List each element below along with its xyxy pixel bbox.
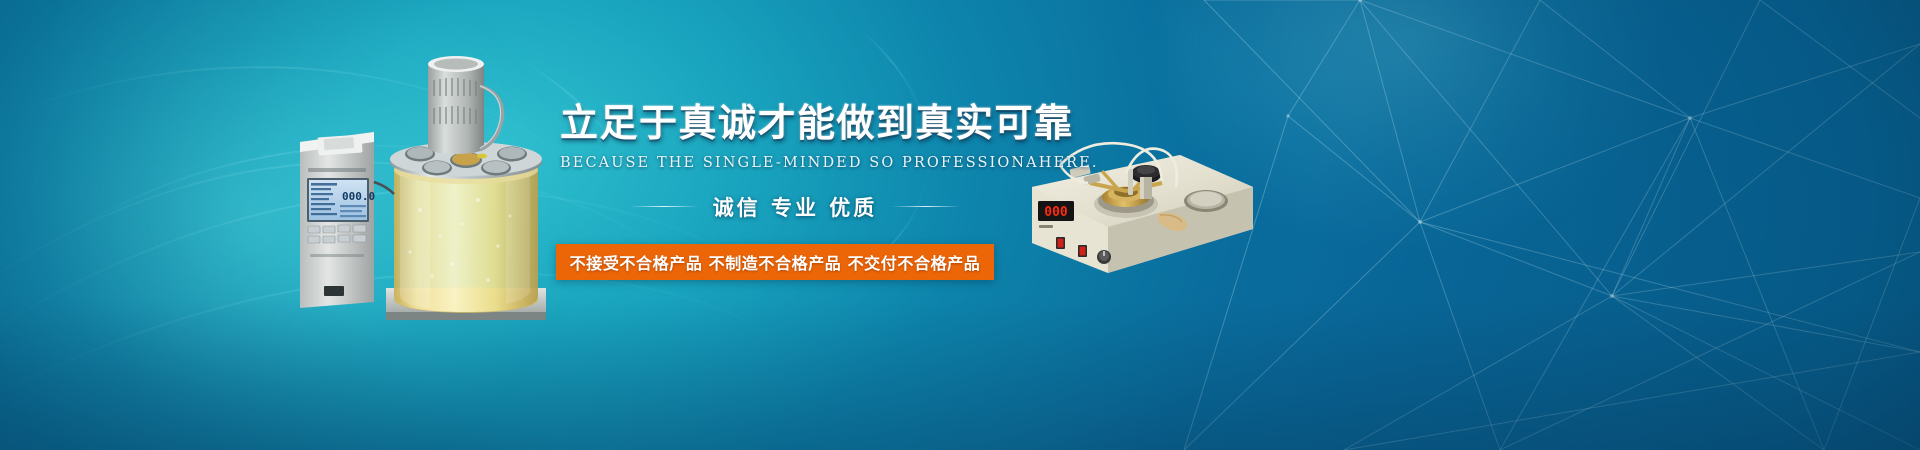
promo-banner: 000.0	[0, 0, 1920, 450]
flash-point-tester-photo: 000	[1030, 125, 1255, 285]
quality-policy-ribbon: 不接受不合格产品 不制造不合格产品 不交付不合格产品	[556, 244, 994, 280]
tagline-rule-right	[893, 206, 959, 207]
banner-subheadline: BECAUSE THE SINGLE-MINDED SO PROFESSIONA…	[560, 155, 1030, 171]
tagline-rule-left	[631, 206, 697, 207]
quality-policy-text: 不接受不合格产品 不制造不合格产品 不交付不合格产品	[570, 250, 981, 274]
banner-headline: 立足于真诚才能做到真实可靠	[560, 104, 1030, 144]
banner-copy: 立足于真诚才能做到真实可靠 BECAUSE THE SINGLE-MINDED …	[560, 104, 1030, 280]
viscometer-instrument-photo: 000.0	[300, 50, 560, 325]
background-bottom-shade	[0, 300, 1920, 450]
flashpoint-led-value: 000	[1044, 205, 1068, 220]
viscometer-display-value: 000.0	[342, 190, 375, 203]
banner-tagline: 诚信 专业 优质	[713, 192, 878, 222]
banner-tagline-row: 诚信 专业 优质	[560, 192, 1030, 222]
